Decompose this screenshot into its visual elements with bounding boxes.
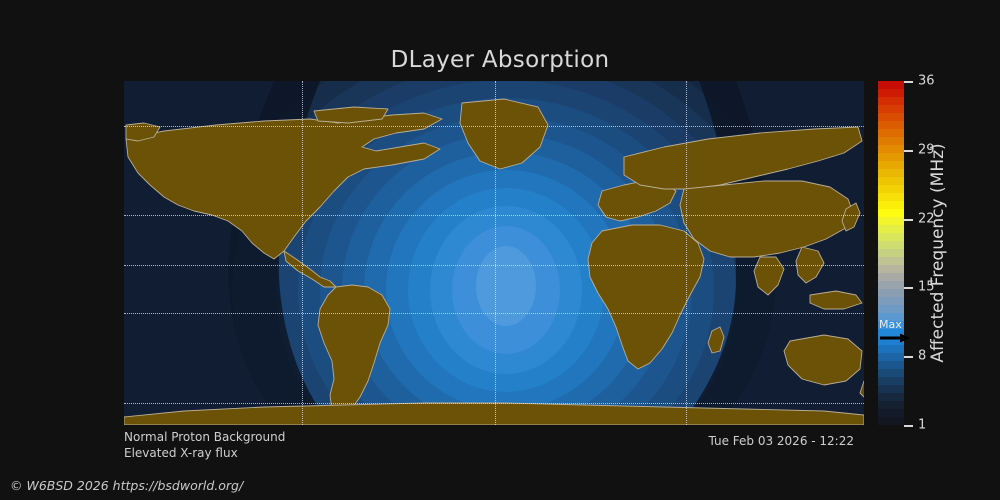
gridline-horizontal bbox=[124, 313, 864, 314]
colorbar-segment bbox=[878, 113, 904, 121]
colorbar-segment bbox=[878, 153, 904, 161]
gridline-horizontal bbox=[124, 265, 864, 266]
colorbar-tick-mark bbox=[904, 150, 913, 152]
colorbar-tick-mark bbox=[904, 287, 913, 289]
max-marker-label: Max bbox=[879, 318, 902, 331]
colorbar-segment bbox=[878, 225, 904, 233]
gridline-horizontal bbox=[124, 215, 864, 216]
colorbar-segment bbox=[878, 393, 904, 401]
colorbar-tick-mark bbox=[904, 425, 913, 427]
colorbar-segment bbox=[878, 289, 904, 297]
colorbar-segment bbox=[878, 249, 904, 257]
colorbar-segment bbox=[878, 377, 904, 385]
dlayer-absorption-map-view: DLayer Absorption bbox=[0, 0, 1000, 500]
gridline-vertical bbox=[686, 81, 687, 425]
gridline-horizontal bbox=[124, 126, 864, 127]
colorbar-segment bbox=[878, 201, 904, 209]
colorbar-segment bbox=[878, 361, 904, 369]
gridline-horizontal bbox=[124, 403, 864, 404]
colorbar-segment bbox=[878, 105, 904, 113]
colorbar-segment bbox=[878, 81, 904, 89]
colorbar-tick-mark bbox=[904, 81, 913, 83]
colorbar[interactable] bbox=[878, 81, 904, 425]
colorbar-segment bbox=[878, 209, 904, 217]
colorbar-segment bbox=[878, 409, 904, 417]
proton-status: Normal Proton Background bbox=[124, 430, 285, 444]
colorbar-segment bbox=[878, 145, 904, 153]
max-marker: Max bbox=[878, 318, 938, 352]
colorbar-segment bbox=[878, 305, 904, 313]
colorbar-segment bbox=[878, 265, 904, 273]
colorbar-segment bbox=[878, 177, 904, 185]
colorbar-segment bbox=[878, 273, 904, 281]
colorbar-segment bbox=[878, 385, 904, 393]
colorbar-segment bbox=[878, 369, 904, 377]
graticule bbox=[124, 81, 864, 425]
colorbar-segment bbox=[878, 185, 904, 193]
colorbar-segment bbox=[878, 97, 904, 105]
colorbar-segment bbox=[878, 417, 904, 425]
colorbar-segment bbox=[878, 281, 904, 289]
gridline-vertical bbox=[495, 81, 496, 425]
copyright-notice: © W6BSD 2026 https://bsdworld.org/ bbox=[10, 478, 243, 493]
colorbar-segment bbox=[878, 89, 904, 97]
timestamp: Tue Feb 03 2026 - 12:22 bbox=[708, 434, 854, 448]
colorbar-segment bbox=[878, 241, 904, 249]
colorbar-segment bbox=[878, 121, 904, 129]
colorbar-segment bbox=[878, 137, 904, 145]
xray-status: Elevated X-ray flux bbox=[124, 446, 238, 460]
colorbar-segment bbox=[878, 217, 904, 225]
right-arrow-icon bbox=[880, 333, 910, 343]
colorbar-segment bbox=[878, 193, 904, 201]
colorbar-segment bbox=[878, 353, 904, 361]
page-title: DLayer Absorption bbox=[0, 47, 1000, 73]
colorbar-segment bbox=[878, 129, 904, 137]
colorbar-segment bbox=[878, 169, 904, 177]
colorbar-axis-label: Affected Frequency (MHz) bbox=[925, 81, 951, 425]
colorbar-tick-mark bbox=[904, 219, 913, 221]
colorbar-tick-mark bbox=[904, 356, 913, 358]
colorbar-segment bbox=[878, 257, 904, 265]
colorbar-segment bbox=[878, 233, 904, 241]
world-map[interactable] bbox=[124, 81, 864, 425]
gridline-vertical bbox=[302, 81, 303, 425]
colorbar-segment bbox=[878, 297, 904, 305]
colorbar-segment bbox=[878, 401, 904, 409]
colorbar-segment bbox=[878, 161, 904, 169]
